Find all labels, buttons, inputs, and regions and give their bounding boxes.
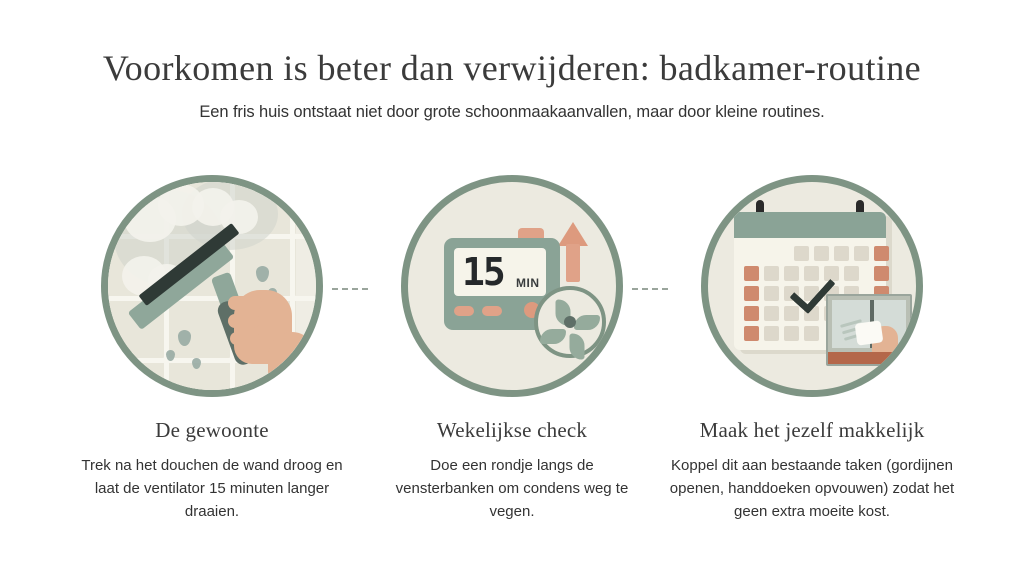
step-card-1: De gewoonte Trek na het douchen de wand … xyxy=(62,160,362,523)
window-cleaning-inset xyxy=(826,294,912,366)
finger xyxy=(228,296,262,310)
timer-button-2 xyxy=(482,306,502,316)
airflow-arrow-shaft xyxy=(566,244,580,282)
step-3-heading: Maak het jezelf makkelijk xyxy=(662,410,962,443)
step-1-illustration-wrap xyxy=(62,160,362,410)
infographic-poster: Voorkomen is beter dan verwijderen: badk… xyxy=(0,0,1024,572)
step-2-body: Doe een rondje langs de vensterbanken om… xyxy=(381,455,643,523)
step-3-body: Koppel dit aan bestaande taken (gordijne… xyxy=(669,455,955,523)
window-sill xyxy=(828,352,910,364)
step-3-illustration-wrap xyxy=(662,160,962,410)
finger xyxy=(230,332,260,345)
step-1-body: Trek na het douchen de wand droog en laa… xyxy=(81,455,343,523)
step-card-3: Maak het jezelf makkelijk Koppel dit aan… xyxy=(662,160,962,523)
page-subtitle: Een fris huis ontstaat niet door grote s… xyxy=(0,103,1024,122)
step-1-heading: De gewoonte xyxy=(62,410,362,443)
wrist xyxy=(268,332,316,388)
step-2-illustration-wrap: 15 MIN xyxy=(362,160,662,410)
step-card-2: 15 MIN Wekelijkse check Doe een rondje l… xyxy=(362,160,662,523)
squeegee-on-tiles-icon xyxy=(101,175,323,397)
timer-button-1 xyxy=(454,306,474,316)
airflow-arrow-head xyxy=(558,222,588,246)
cleaning-cloth xyxy=(855,320,884,345)
step-2-heading: Wekelijkse check xyxy=(362,410,662,443)
steps-row: De gewoonte Trek na het douchen de wand … xyxy=(0,160,1024,560)
tile-wall xyxy=(108,182,316,390)
calendar-header xyxy=(734,212,886,238)
fan-icon xyxy=(534,286,606,358)
finger xyxy=(228,314,260,328)
header: Voorkomen is beter dan verwijderen: badk… xyxy=(0,48,1024,122)
timer-unit-label: MIN xyxy=(516,276,540,290)
page-title: Voorkomen is beter dan verwijderen: badk… xyxy=(0,48,1024,89)
timer-with-fan-icon: 15 MIN xyxy=(401,175,623,397)
fan-hub xyxy=(564,316,576,328)
timer-digits: 15 xyxy=(462,250,504,294)
calendar-with-check-icon xyxy=(701,175,923,397)
